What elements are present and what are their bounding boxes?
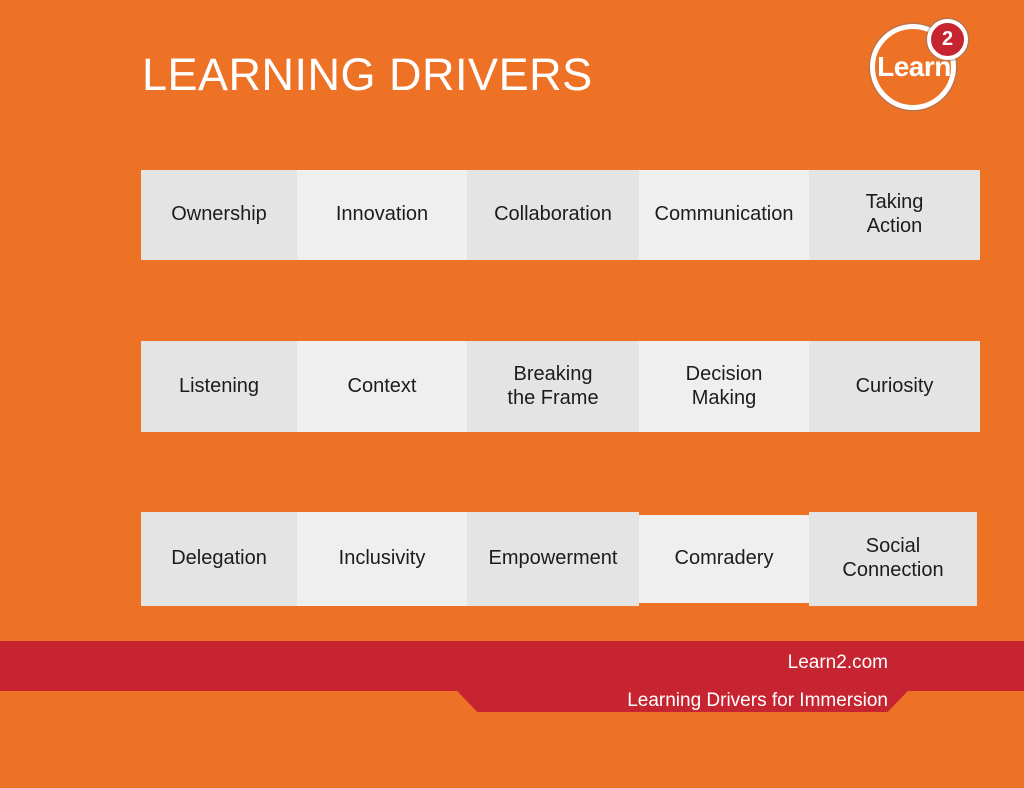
driver-cell[interactable]: TakingAction	[809, 170, 980, 260]
driver-cell[interactable]: Inclusivity	[297, 512, 467, 606]
driver-cell[interactable]: SocialConnection	[809, 512, 977, 606]
driver-row: DelegationInclusivityEmpowermentComrader…	[141, 512, 977, 606]
driver-cell-label: Ownership	[171, 203, 267, 227]
driver-cell-label: Comradery	[675, 547, 774, 571]
footer-website: Learn2.com	[0, 641, 888, 672]
driver-cell[interactable]: Innovation	[297, 170, 467, 260]
driver-cell[interactable]: DecisionMaking	[639, 341, 809, 432]
driver-cell-label: Empowerment	[489, 547, 618, 571]
driver-row: ListeningContextBreakingthe FrameDecisio…	[141, 341, 980, 432]
driver-cell[interactable]: Context	[297, 341, 467, 432]
learn2-logo: Learn 2	[866, 14, 974, 120]
driver-cell-label: Communication	[655, 203, 794, 227]
slide-footer: Learn2.com Learning Drivers for Immersio…	[0, 641, 1024, 691]
driver-cell-label: SocialConnection	[842, 535, 943, 582]
driver-cell-label: Curiosity	[856, 375, 934, 399]
driver-cell-label: Innovation	[336, 203, 428, 227]
driver-cell-label: DecisionMaking	[686, 363, 763, 410]
footer-subtitle: Learning Drivers for Immersion	[0, 672, 888, 710]
driver-cell[interactable]: Comradery	[639, 515, 809, 603]
driver-cell-label: Listening	[179, 375, 259, 399]
driver-cell[interactable]: Ownership	[141, 170, 297, 260]
driver-cell-label: Inclusivity	[339, 547, 426, 571]
driver-cell[interactable]: Communication	[639, 170, 809, 260]
driver-cell[interactable]: Collaboration	[467, 170, 639, 260]
driver-row: OwnershipInnovationCollaborationCommunic…	[141, 170, 980, 260]
driver-cell[interactable]: Curiosity	[809, 341, 980, 432]
driver-cell-label: Breakingthe Frame	[507, 363, 598, 410]
driver-cell[interactable]: Listening	[141, 341, 297, 432]
driver-cell-label: Context	[348, 375, 417, 399]
driver-cell-label: Delegation	[171, 547, 267, 571]
logo-badge: 2	[927, 19, 968, 60]
driver-cell[interactable]: Breakingthe Frame	[467, 341, 639, 432]
driver-cell-label: TakingAction	[866, 191, 924, 238]
page-title: LEARNING DRIVERS	[142, 52, 593, 97]
footer-text-block: Learn2.com Learning Drivers for Immersio…	[0, 641, 1024, 712]
driver-cell-label: Collaboration	[494, 203, 612, 227]
driver-cell[interactable]: Empowerment	[467, 512, 639, 606]
driver-cell[interactable]: Delegation	[141, 512, 297, 606]
